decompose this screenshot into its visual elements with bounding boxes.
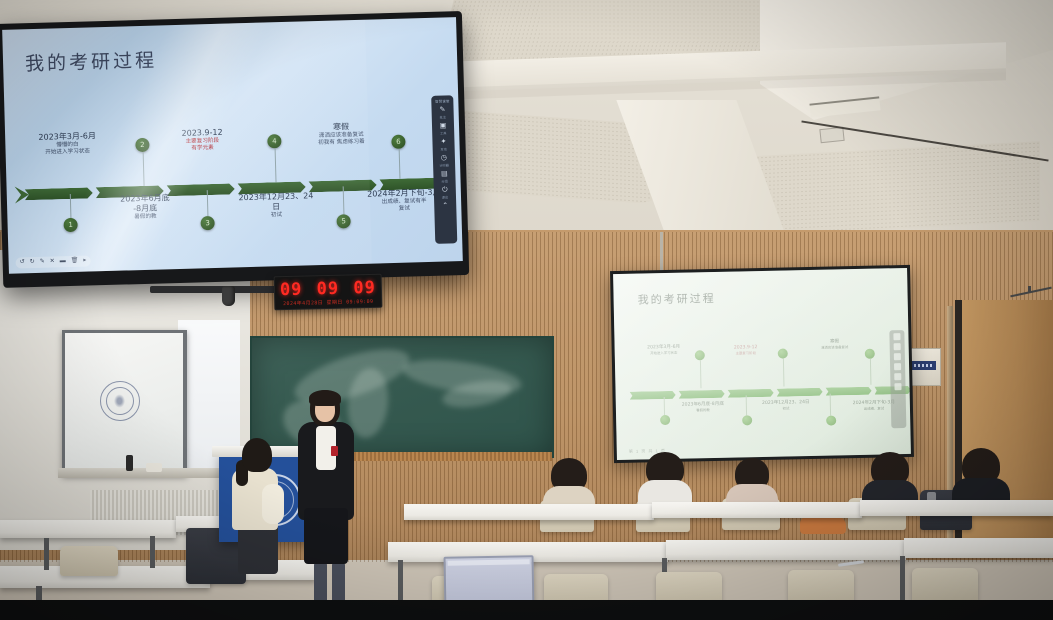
timeline-label-2: 2023年6月底 -8月底 暑假的教 (103, 193, 188, 223)
star-icon: ✦ (439, 137, 448, 146)
toolbar-label: 工具 (440, 130, 447, 135)
projection-screen: 我的考研过程 2023年3月-6月 开始进入学习状态 2023年6月底-8月底 … (613, 268, 911, 460)
timeline-node-3[interactable]: 3 (200, 216, 214, 230)
briefcase-icon: ▣ (438, 121, 447, 130)
desk-leg (900, 556, 905, 600)
close-icon[interactable]: ✕ (50, 256, 55, 267)
led-clock: 09 09 09 2024年4月28日 星期日 09:09:09 (274, 274, 383, 311)
trash-icon[interactable]: 🗑 (71, 256, 79, 267)
skirt (304, 508, 348, 564)
chevron-up-icon: ⌃ (441, 201, 450, 210)
desk (860, 500, 1053, 516)
eraser (146, 463, 162, 472)
timeline-stem-6 (399, 149, 401, 179)
hair (242, 438, 272, 472)
tv-screen[interactable]: 我的考研过程 2023年3月-6月 懵懵的白 开始进入学习状态 1 (2, 17, 463, 274)
clock-minutes: 09 (316, 279, 339, 300)
timeline-arrow-start (15, 186, 29, 203)
timeline-node-6[interactable]: 6 (391, 135, 405, 149)
floor-foreground (0, 600, 1053, 620)
slide-bottom-toolbar[interactable]: ↺ ↻ ✎ ✕ ▬ 🗑 ▸ (16, 255, 91, 268)
timeline-node-1[interactable]: 1 (63, 218, 77, 232)
keyboard-icon[interactable]: ▬ (60, 256, 66, 267)
slide-title: 我的考研过程 (25, 46, 158, 77)
wall-speaker (222, 286, 235, 306)
toolbar-label: 互动 (440, 146, 447, 151)
laptop-screen-toolbar (448, 559, 530, 565)
clock-seconds: 09 (353, 278, 376, 299)
desk (404, 504, 654, 520)
toolbar-label: 分组 (441, 178, 448, 183)
chair[interactable] (60, 546, 118, 576)
undo-icon[interactable]: ↺ (20, 257, 25, 268)
panel-display (911, 361, 936, 370)
timeline-label-5: 寒假 潇洒应该准备复试 初我有 焦虑练习着 (295, 121, 388, 148)
power-icon: ⏻ (440, 185, 449, 194)
clock-date: 2024年4月28日 星期日 09:09:09 (275, 298, 381, 308)
university-emblem-watermark (100, 381, 140, 421)
desk-leg (398, 560, 403, 600)
front-row-listener (228, 438, 290, 588)
toolbar-item-group[interactable]: ▤ 分组 (433, 169, 455, 184)
timeline-node-4[interactable]: 4 (267, 134, 281, 148)
desk (904, 538, 1053, 558)
chair[interactable] (788, 570, 854, 604)
ceiling-fan (1010, 286, 1052, 298)
student-1 (543, 458, 595, 510)
timeline-node-5[interactable]: 5 (336, 214, 350, 228)
pen-icon: ✎ (438, 105, 447, 114)
projector-mount (660, 232, 663, 272)
wall-mounted-tv[interactable]: 我的考研过程 2023年3月-6月 懵懵的白 开始进入学习状态 1 (0, 11, 469, 288)
smart-classroom-toolbar[interactable]: 智慧课堂 ✎ 批注 ▣ 工具 ✦ 互动 ◷ 计时器 ▤ (431, 95, 457, 244)
marker (126, 455, 133, 471)
toolbar-item-timer[interactable]: ◷ 计时器 (433, 153, 455, 168)
redo-icon[interactable]: ↻ (30, 257, 35, 268)
lower-body (238, 524, 278, 574)
jacket-on-desk (800, 516, 846, 534)
timeline-label-4: 2023年12月23、24日 初试 (235, 191, 318, 221)
whiteboard (62, 330, 187, 476)
lecture-hall-photo: 我的考研过程 2023年3月-6月 懵懵的白 开始进入学习状态 1 (0, 0, 1053, 620)
toolbar-item-interact[interactable]: ✦ 互动 (432, 137, 454, 152)
grid-icon: ▤ (440, 169, 449, 178)
projection-screen-frame: 我的考研过程 2023年3月-6月 开始进入学习状态 2023年6月底-8月底 … (610, 265, 914, 463)
leg (314, 562, 327, 604)
toolbar-item-collapse[interactable]: ⌃ (434, 201, 456, 211)
chair[interactable] (912, 568, 978, 602)
desk (666, 540, 906, 560)
tv-mount (150, 286, 290, 293)
timeline-stem-2 (143, 152, 145, 186)
toolbar-label: 计时器 (439, 162, 449, 167)
ceiling-projector (819, 127, 844, 143)
timeline-label-1: 2023年3月-6月 懵懵的白 开始进入学习状态 (19, 131, 116, 158)
arm (262, 484, 284, 524)
timeline-segment (25, 187, 93, 200)
leg (332, 562, 345, 604)
clock-hours: 09 (280, 280, 303, 301)
clock-digits: 09 09 09 (280, 278, 376, 300)
toolbar-item-pen[interactable]: ✎ 批注 (431, 105, 453, 120)
presenter-at-podium (296, 390, 366, 620)
timeline-node-2[interactable]: 2 (135, 138, 149, 152)
toolbar-title: 智慧课堂 (435, 98, 450, 103)
timeline-label-3: 2023.9-12 主要复习阶段 有学元素 (157, 127, 248, 154)
toolbar-item-exit[interactable]: ⏻ 退出 (434, 185, 456, 200)
toolbar-label: 退出 (442, 194, 449, 199)
hair (309, 390, 341, 406)
toolbar-label: 批注 (440, 114, 447, 119)
toolbar-item-tools[interactable]: ▣ 工具 (432, 121, 454, 136)
desk-leg (44, 538, 49, 570)
desk (652, 502, 862, 518)
projection-washout (613, 268, 911, 460)
clock-icon: ◷ (439, 153, 448, 162)
name-badge (331, 446, 338, 456)
pen-icon[interactable]: ✎ (40, 257, 45, 268)
desk-leg (150, 536, 155, 568)
timeline-stem-4 (275, 148, 277, 182)
more-icon[interactable]: ▸ (83, 256, 86, 267)
